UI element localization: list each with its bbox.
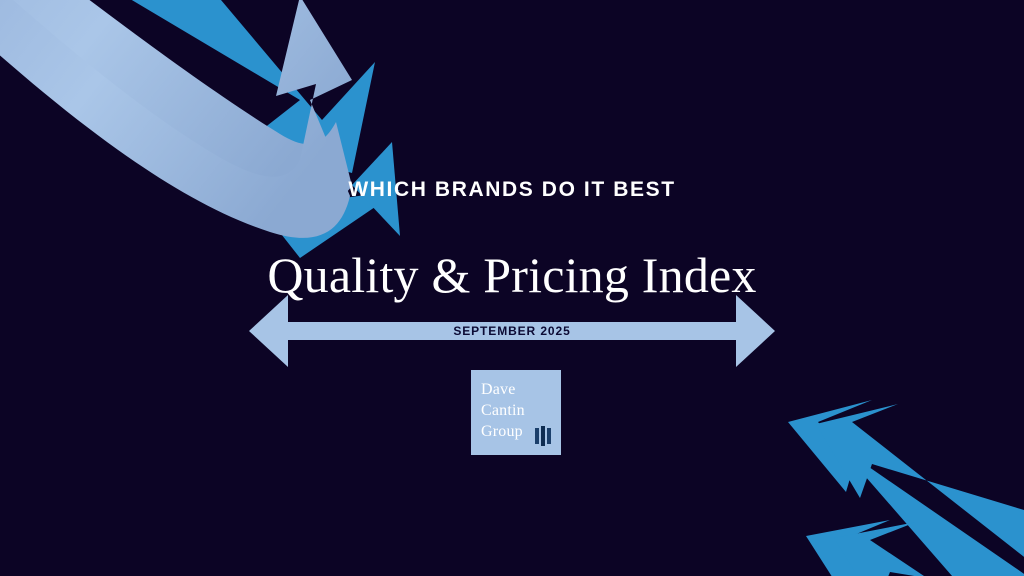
logo-line-3: Group — [481, 421, 525, 442]
slide-eyebrow: WHICH BRANDS DO IT BEST — [0, 178, 1024, 202]
logo-line-1: Dave — [481, 379, 525, 400]
logo-line-2: Cantin — [481, 400, 525, 421]
logo: Dave Cantin Group — [471, 370, 561, 455]
date-label: SEPTEMBER 2025 — [248, 292, 776, 370]
slide-content: WHICH BRANDS DO IT BEST Quality & Pricin… — [0, 0, 1024, 576]
date-banner: SEPTEMBER 2025 — [248, 292, 776, 370]
logo-wordmark: Dave Cantin Group — [481, 379, 525, 442]
presentation-slide: WHICH BRANDS DO IT BEST Quality & Pricin… — [0, 0, 1024, 576]
three-bars-mark-icon — [535, 426, 552, 446]
